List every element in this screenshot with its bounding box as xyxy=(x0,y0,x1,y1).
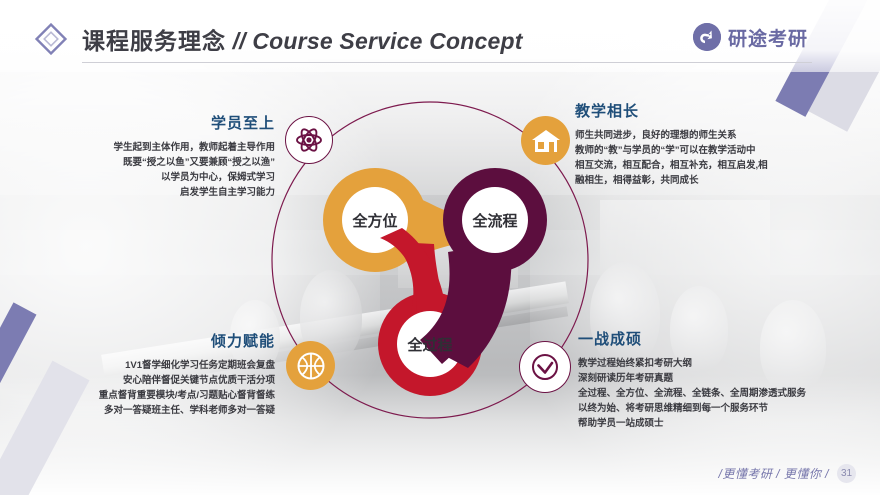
brand-name: 研途考研 xyxy=(728,24,808,51)
footer-tagline: /更懂考研 / 更懂你 / xyxy=(718,465,829,482)
text-block-bottom-right: 一战成硕 教学过程始终紧扣考研大纲 深刻研读历年考研真题 全过程、全方位、全流程… xyxy=(578,328,878,431)
slide-header: 课程服务理念 // Course Service Concept 研途考研 xyxy=(0,0,880,72)
atom-icon[interactable] xyxy=(285,116,333,164)
diamond-icon xyxy=(34,22,68,56)
check-circle-icon[interactable] xyxy=(519,341,571,393)
text-block-line: 教师的“教”与学员的“学”可以在教学活动中 xyxy=(575,143,875,158)
text-block-line: 师生共同进步，良好的理想的师生关系 xyxy=(575,128,875,143)
text-block-line: 启发学生自主学习能力 xyxy=(10,185,275,200)
brand-logo: 研途考研 xyxy=(693,23,808,51)
text-block-line: 安心陪伴督促关键节点优质干活分项 xyxy=(10,373,275,388)
text-block-line: 帮助学员一站成硕士 xyxy=(578,416,878,431)
basketball-icon[interactable] xyxy=(286,341,335,390)
lobe-label-bottom: 全过程 xyxy=(406,336,452,354)
text-block-bottom-left: 倾力赋能 1V1督学细化学习任务定期班会复盘 安心陪伴督促关键节点优质干活分项 … xyxy=(10,330,275,418)
house-icon[interactable] xyxy=(521,116,570,165)
text-block-title: 学员至上 xyxy=(10,112,275,133)
page-title: 课程服务理念 // Course Service Concept xyxy=(82,22,523,56)
text-block-line: 以终为始、将考研思维精细到每一个服务环节 xyxy=(578,401,878,416)
text-block-top-left: 学员至上 学生起到主体作用，教师起着主导作用 既要“授之以鱼”又要兼顾“授之以渔… xyxy=(10,112,275,200)
page-number: 31 xyxy=(837,464,856,483)
text-block-title: 倾力赋能 xyxy=(10,330,275,351)
page-title-cn: 课程服务理念 xyxy=(82,28,226,54)
text-block-line: 以学员为中心，保姆式学习 xyxy=(10,170,275,185)
text-block-top-right: 教学相长 师生共同进步，良好的理想的师生关系 教师的“教”与学员的“学”可以在教… xyxy=(575,100,875,188)
lobe-label-top-left: 全方位 xyxy=(351,212,397,230)
text-block-line: 深刻研读历年考研真题 xyxy=(578,371,878,386)
text-block-line: 教学过程始终紧扣考研大纲 xyxy=(578,356,878,371)
page-title-sep: // xyxy=(226,28,252,54)
text-block-line: 学生起到主体作用，教师起着主导作用 xyxy=(10,140,275,155)
page-title-en: Course Service Concept xyxy=(252,28,522,54)
text-block-line: 多对一答疑班主任、学科老师多对一答疑 xyxy=(10,403,275,418)
header-divider xyxy=(82,62,812,63)
text-block-line: 既要“授之以鱼”又要兼顾“授之以渔” xyxy=(10,155,275,170)
text-block-title: 教学相长 xyxy=(575,100,875,121)
text-block-line: 全过程、全方位、全流程、全链条、全周期渗透式服务 xyxy=(578,386,878,401)
text-block-line: 相互交流，相互配合，相互补充，相互启发,相 xyxy=(575,158,875,173)
text-block-title: 一战成硕 xyxy=(578,328,878,349)
slide-canvas: 课程服务理念 // Course Service Concept 研途考研 xyxy=(0,0,880,495)
unicorn-logo-icon xyxy=(693,23,721,51)
text-block-line: 融相生，相得益彰，共同成长 xyxy=(575,173,875,188)
slide-footer: /更懂考研 / 更懂你 / 31 xyxy=(718,464,856,483)
text-block-line: 1V1督学细化学习任务定期班会复盘 xyxy=(10,358,275,373)
lobe-label-top-right: 全流程 xyxy=(471,212,517,230)
text-block-line: 重点督背重要模块/考点/习题贴心督背督练 xyxy=(10,388,275,403)
